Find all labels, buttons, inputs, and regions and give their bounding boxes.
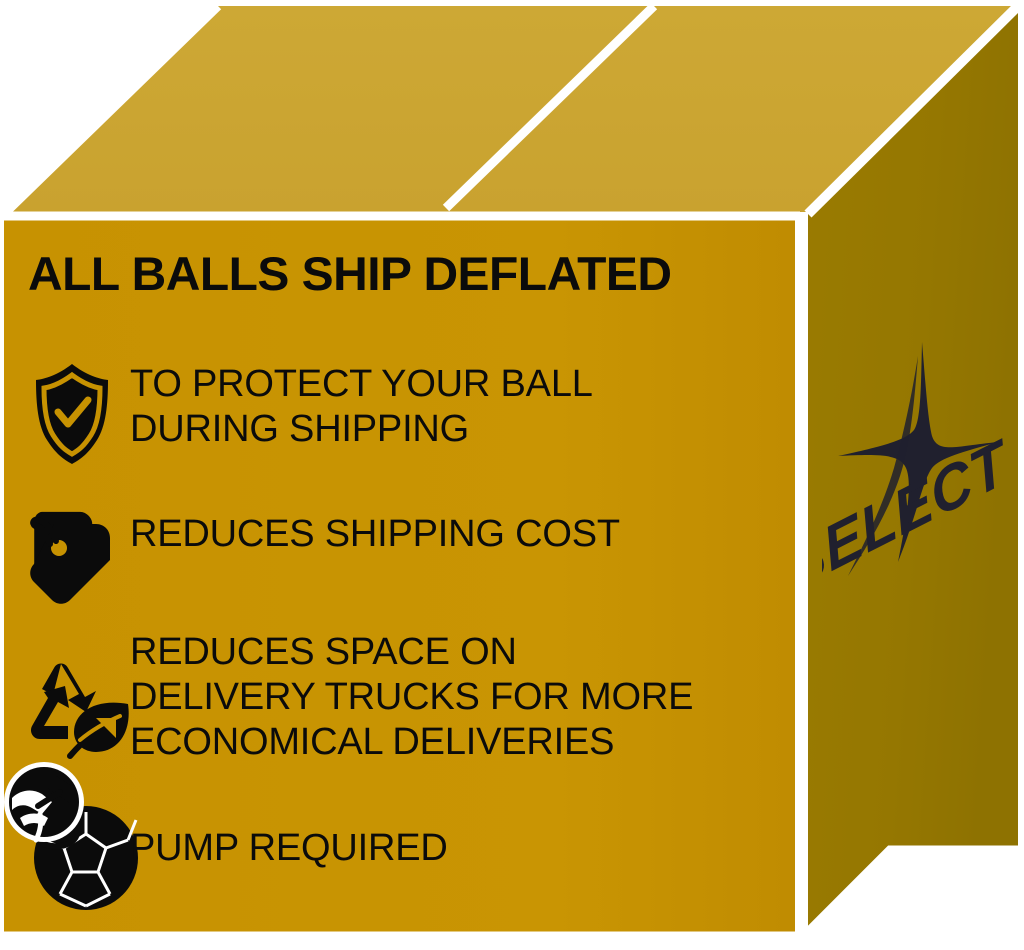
product-info-graphic: SELECT ALL BALLS SHIP DEFLATED TO PROTEC… [0, 0, 1024, 950]
benefit-text-protect: TO PROTECT YOUR BALL DURING SHIPPING [130, 360, 804, 452]
benefit-item-space: REDUCES SPACE ON DELIVERY TRUCKS FOR MOR… [14, 628, 804, 764]
benefit-item-protect: TO PROTECT YOUR BALL DURING SHIPPING [14, 360, 804, 452]
benefit-text-pump: PUMP REQUIRED [130, 820, 804, 871]
benefit-item-cost: REDUCES SHIPPING COST [14, 510, 804, 557]
benefit-line: DELIVERY TRUCKS FOR MORE [130, 675, 804, 720]
benefit-line: REDUCES SHIPPING COST [130, 512, 804, 557]
benefit-line: ECONOMICAL DELIVERIES [130, 720, 804, 765]
benefit-line: PUMP REQUIRED [130, 826, 804, 871]
page-title: ALL BALLS SHIP DEFLATED [28, 250, 803, 297]
benefit-line: DURING SHIPPING [130, 407, 804, 452]
benefit-line: REDUCES SPACE ON [130, 630, 804, 675]
benefit-item-pump: PUMP REQUIRED [14, 820, 804, 871]
benefit-line: TO PROTECT YOUR BALL [130, 362, 804, 407]
benefit-text-cost: REDUCES SHIPPING COST [130, 510, 804, 557]
benefit-text-space: REDUCES SPACE ON DELIVERY TRUCKS FOR MOR… [130, 628, 804, 764]
select-logo: SELECT [822, 336, 1018, 608]
